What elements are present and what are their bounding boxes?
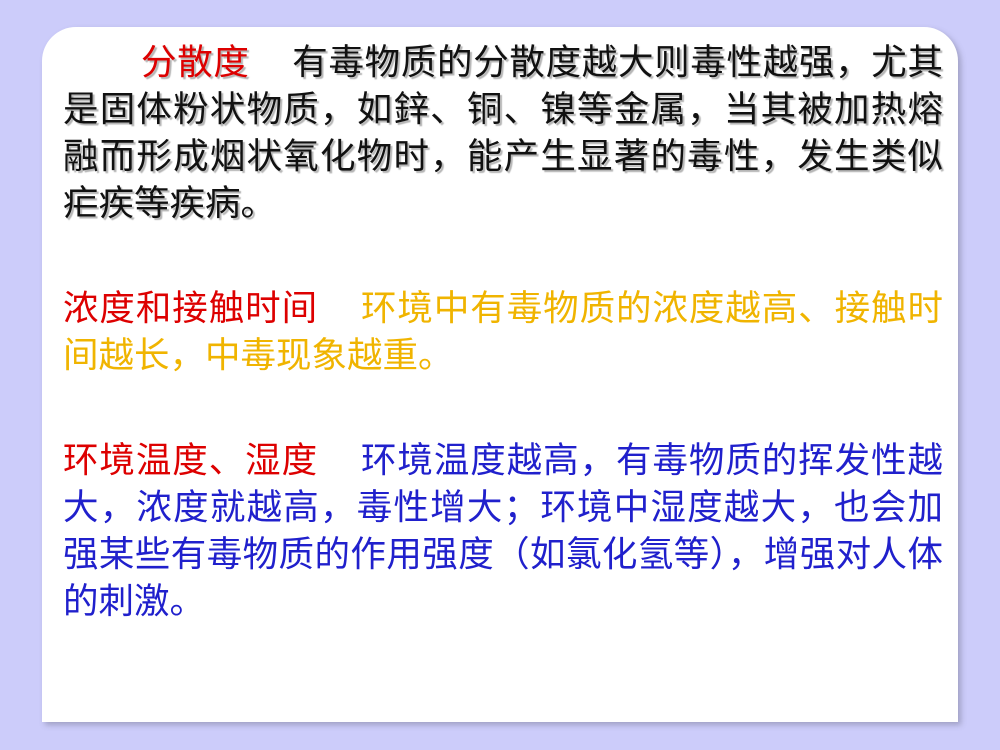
- slide-content-panel: 分散度有毒物质的分散度越大则毒性越强，尤其是固体粉状物质，如鋅、铜、镍等金属，当…: [42, 27, 958, 722]
- paragraph-dispersity-heading: 分散度: [141, 42, 250, 83]
- slide-text-body: 分散度有毒物质的分散度越大则毒性越强，尤其是固体粉状物质，如鋅、铜、镍等金属，当…: [63, 39, 943, 625]
- paragraph-temperature: 环境温度、湿度环境温度越高，有毒物质的挥发性越大，浓度就越高，毒性增大；环境中湿…: [63, 437, 943, 625]
- slide-canvas: 分散度有毒物质的分散度越大则毒性越强，尤其是固体粉状物质，如鋅、铜、镍等金属，当…: [0, 0, 1000, 750]
- paragraph-dispersity: 分散度有毒物质的分散度越大则毒性越强，尤其是固体粉状物质，如鋅、铜、镍等金属，当…: [63, 39, 943, 227]
- paragraph-concentration: 浓度和接触时间环境中有毒物质的浓度越高、接触时间越长，中毒现象越重。: [63, 285, 943, 379]
- paragraph-concentration-heading: 浓度和接触时间: [63, 288, 318, 329]
- paragraph-temperature-heading: 环境温度、湿度: [63, 440, 318, 481]
